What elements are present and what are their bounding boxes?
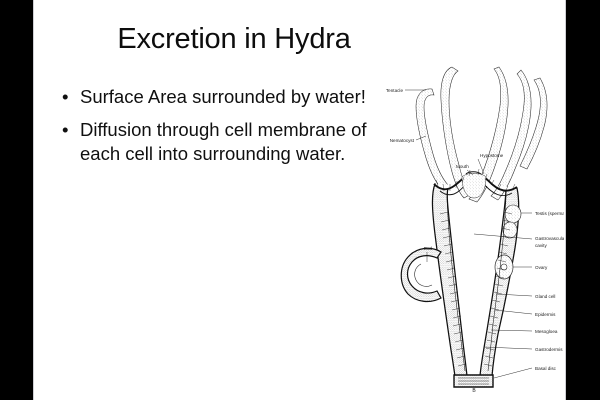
slide-canvas: Excretion in Hydra • Surface Area surrou…	[34, 0, 565, 400]
label-gland-cell: Gland cell	[535, 294, 555, 299]
testis-1	[505, 205, 521, 223]
bullet-marker: •	[62, 85, 68, 109]
leader-basal-disc	[494, 368, 532, 378]
slide-root: Excretion in Hydra • Surface Area surrou…	[0, 0, 600, 400]
label-tentacle: Tentacle	[386, 88, 404, 93]
letterbox-bar-right	[566, 0, 600, 400]
label-mouth: Mouth	[456, 164, 469, 169]
page-title: Excretion in Hydra	[34, 22, 434, 56]
letterbox-seam-right	[565, 0, 566, 400]
label-gastrodermis: Gastrodermis	[535, 347, 563, 352]
hydra-body-group	[401, 67, 547, 387]
label-basal-disc: Basal disc	[535, 366, 557, 371]
hydra-diagram: Tentacle Nematocyst Hypostome Mouth Bud …	[374, 62, 564, 392]
bud-cavity	[415, 264, 432, 286]
bullet-list: • Surface Area surrounded by water! • Di…	[58, 85, 388, 175]
bullet-text: Diffusion through cell membrane of each …	[80, 119, 367, 164]
letterbox-bar-left	[0, 0, 33, 400]
label-epidermis: Epidermis	[535, 312, 556, 317]
bullet-text: Surface Area surrounded by water!	[80, 86, 366, 107]
label-testis: Testis (spermary)	[535, 211, 564, 216]
label-hypostome: Hypostome	[480, 153, 504, 158]
bullet-item-2: • Diffusion through cell membrane of eac…	[58, 118, 388, 166]
bullet-marker: •	[62, 118, 68, 142]
label-nematocyst: Nematocyst	[390, 138, 415, 143]
label-ovary: Ovary	[535, 265, 548, 270]
figure-panel-letter: B	[472, 388, 476, 392]
label-mesogloea: Mesogloea	[535, 329, 558, 334]
leader-hypostome	[478, 159, 484, 174]
bullet-item-1: • Surface Area surrounded by water!	[58, 85, 388, 109]
label-gastrovascular-cavity-line2: cavity	[535, 243, 547, 248]
label-gastrovascular-cavity-line1: Gastrovascular	[535, 236, 564, 241]
label-bud: Bud	[424, 246, 433, 251]
bud-group	[401, 248, 441, 301]
